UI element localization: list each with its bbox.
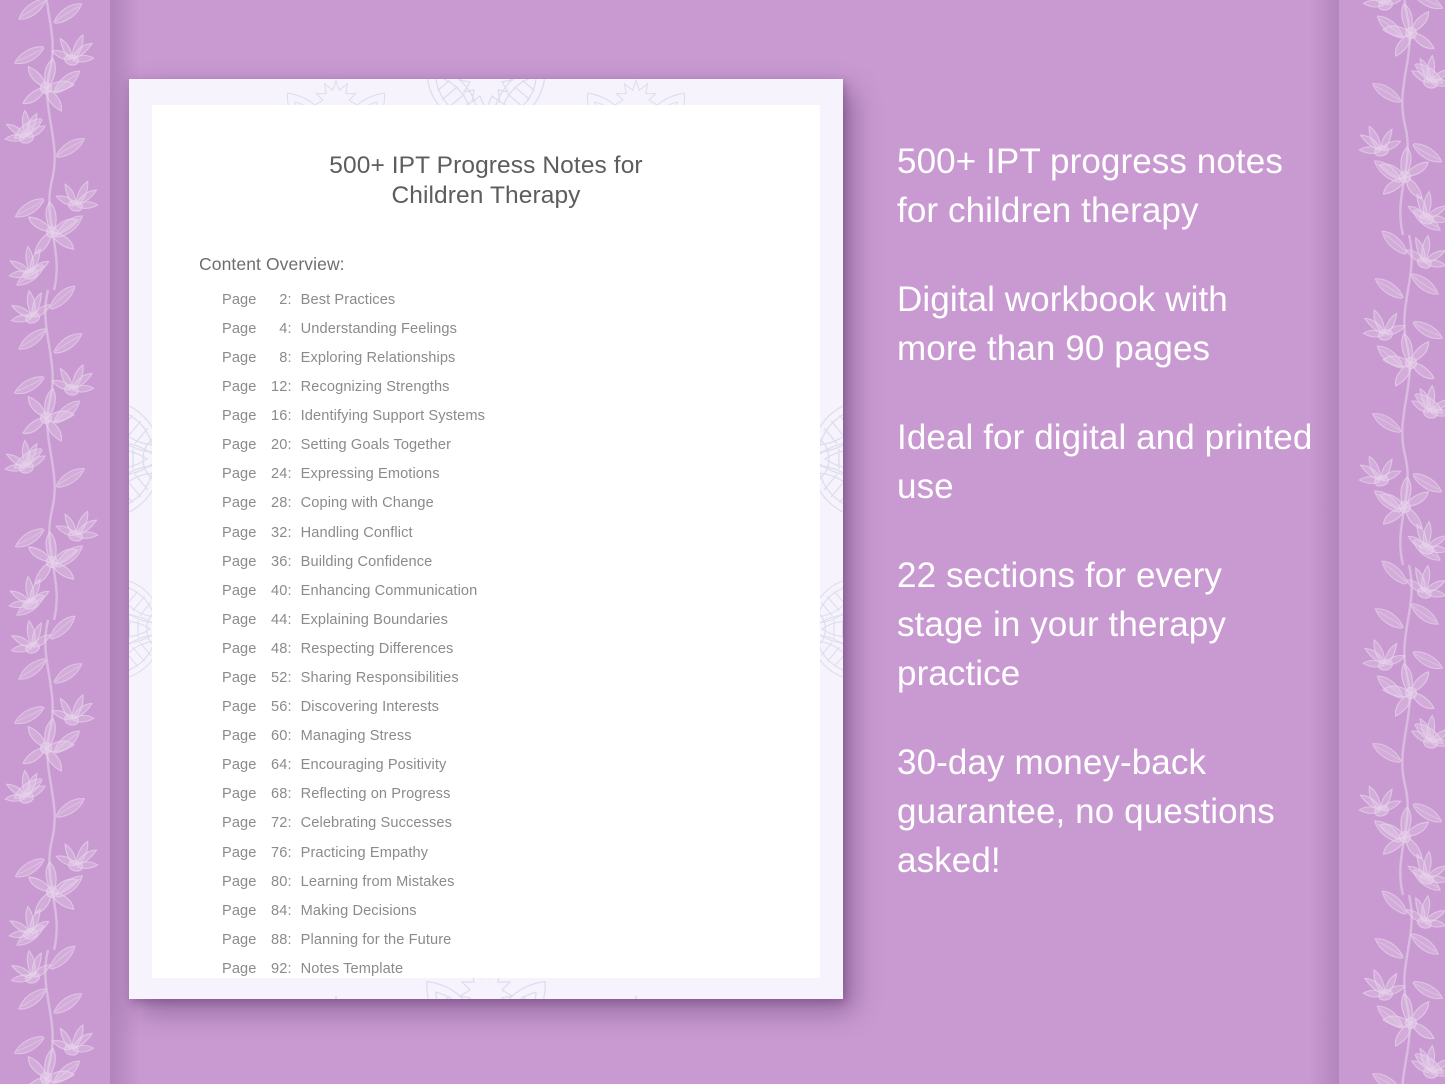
toc-entry[interactable]: Page64:Encouraging Positivity: [222, 757, 820, 786]
toc-page-number: 32: [261, 525, 287, 541]
toc-entry[interactable]: Page80:Learning from Mistakes: [222, 874, 820, 903]
toc-page-number: 76: [261, 845, 287, 861]
toc-colon: :: [287, 292, 291, 308]
toc-entry-title: Coping with Change: [301, 495, 434, 511]
toc-colon: :: [287, 670, 291, 686]
toc-page-word: Page: [222, 932, 256, 948]
floral-vine-border-right: [1321, 0, 1445, 1084]
toc-entry[interactable]: Page72:Celebrating Successes: [222, 815, 820, 844]
toc-entry[interactable]: Page20:Setting Goals Together: [222, 437, 820, 466]
toc-entry-title: Recognizing Strengths: [301, 379, 450, 395]
toc-page-number: 20: [261, 437, 287, 453]
toc-page-number: 72: [261, 815, 287, 831]
toc-page-number: 44: [261, 612, 287, 628]
toc-colon: :: [287, 641, 291, 657]
toc-colon: :: [287, 350, 291, 366]
floral-vine-border-left: [0, 0, 136, 1084]
toc-entry[interactable]: Page16:Identifying Support Systems: [222, 408, 820, 437]
marketing-bullet: 30-day money-back guarantee, no question…: [897, 738, 1317, 885]
toc-entry-title: Explaining Boundaries: [301, 612, 448, 628]
toc-page-number: 40: [261, 583, 287, 599]
toc-page-number: 92: [261, 961, 287, 977]
toc-colon: :: [287, 583, 291, 599]
toc-page-word: Page: [222, 903, 256, 919]
toc-entry[interactable]: Page8:Exploring Relationships: [222, 350, 820, 379]
marketing-bullet: 22 sections for every stage in your ther…: [897, 551, 1317, 698]
toc-colon: :: [287, 728, 291, 744]
toc-entry[interactable]: Page48:Respecting Differences: [222, 641, 820, 670]
toc-entry[interactable]: Page24:Expressing Emotions: [222, 466, 820, 495]
toc-entry-title: Making Decisions: [301, 903, 417, 919]
toc-colon: :: [287, 699, 291, 715]
page-title-line-1: 500+ IPT Progress Notes for: [329, 152, 642, 179]
toc-entry[interactable]: Page44:Explaining Boundaries: [222, 612, 820, 641]
toc-page-number: 84: [261, 903, 287, 919]
toc-page-number: 80: [261, 874, 287, 890]
toc-page-number: 28: [261, 495, 287, 511]
toc-colon: :: [287, 321, 291, 337]
toc-page-number: 56: [261, 699, 287, 715]
toc-page-word: Page: [222, 408, 256, 424]
toc-page-number: 88: [261, 932, 287, 948]
toc-entry[interactable]: Page84:Making Decisions: [222, 903, 820, 932]
toc-page-number: 64: [261, 757, 287, 773]
toc-entry[interactable]: Page36:Building Confidence: [222, 554, 820, 583]
toc-page-word: Page: [222, 815, 256, 831]
toc-page-word: Page: [222, 874, 256, 890]
toc-page-number: 60: [261, 728, 287, 744]
toc-entry-title: Exploring Relationships: [301, 350, 456, 366]
toc-entry[interactable]: Page12:Recognizing Strengths: [222, 379, 820, 408]
toc-entry-title: Managing Stress: [301, 728, 412, 744]
toc-entry[interactable]: Page68:Reflecting on Progress: [222, 786, 820, 815]
toc-page-word: Page: [222, 612, 256, 628]
toc-entry[interactable]: Page4:Understanding Feelings: [222, 321, 820, 350]
toc-page-word: Page: [222, 350, 256, 366]
toc-entry-title: Enhancing Communication: [301, 583, 478, 599]
toc-entry-title: Encouraging Positivity: [301, 757, 447, 773]
toc-page-word: Page: [222, 321, 256, 337]
toc-entry-title: Reflecting on Progress: [301, 786, 451, 802]
toc-colon: :: [287, 495, 291, 511]
toc-colon: :: [287, 786, 291, 802]
marketing-bullet: 500+ IPT progress notes for children the…: [897, 137, 1317, 235]
toc-colon: :: [287, 379, 291, 395]
toc-entry-title: Discovering Interests: [301, 699, 439, 715]
toc-entry-title: Respecting Differences: [301, 641, 454, 657]
toc-page-word: Page: [222, 437, 256, 453]
toc-page-word: Page: [222, 728, 256, 744]
toc-entry[interactable]: Page92:Notes Template: [222, 961, 820, 990]
toc-page-word: Page: [222, 670, 256, 686]
toc-page-word: Page: [222, 699, 256, 715]
toc-entry-title: Sharing Responsibilities: [301, 670, 459, 686]
toc-page-word: Page: [222, 641, 256, 657]
toc-entry-title: Handling Conflict: [301, 525, 413, 541]
toc-entry-title: Expressing Emotions: [301, 466, 440, 482]
toc-colon: :: [287, 815, 291, 831]
toc-page-word: Page: [222, 379, 256, 395]
toc-entry[interactable]: Page88:Planning for the Future: [222, 932, 820, 961]
toc-colon: :: [287, 845, 291, 861]
toc-entry-title: Building Confidence: [301, 554, 433, 570]
toc-page-word: Page: [222, 292, 256, 308]
toc-entry-title: Learning from Mistakes: [301, 874, 455, 890]
marketing-bullets: 500+ IPT progress notes for children the…: [897, 137, 1317, 885]
toc-page-number: 16: [261, 408, 287, 424]
marketing-bullet: Ideal for digital and printed use: [897, 413, 1317, 511]
toc-entry-title: Best Practices: [301, 292, 396, 308]
toc-page-number: 36: [261, 554, 287, 570]
toc-page-word: Page: [222, 583, 256, 599]
toc-page-word: Page: [222, 554, 256, 570]
toc-page-word: Page: [222, 757, 256, 773]
toc-entry-title: Notes Template: [301, 961, 404, 977]
toc-colon: :: [287, 961, 291, 977]
toc-entry-title: Practicing Empathy: [301, 845, 429, 861]
toc-colon: :: [287, 466, 291, 482]
toc-colon: :: [287, 932, 291, 948]
toc-page-word: Page: [222, 845, 256, 861]
toc-page-word: Page: [222, 525, 256, 541]
toc-entry[interactable]: Page40:Enhancing Communication: [222, 583, 820, 612]
toc-colon: :: [287, 554, 291, 570]
toc-entry[interactable]: Page28:Coping with Change: [222, 495, 820, 524]
toc-entry[interactable]: Page76:Practicing Empathy: [222, 845, 820, 874]
toc-entry[interactable]: Page32:Handling Conflict: [222, 525, 820, 554]
toc-page-number: 68: [261, 786, 287, 802]
toc-colon: :: [287, 757, 291, 773]
toc-colon: :: [287, 874, 291, 890]
toc-page-number: 12: [261, 379, 287, 395]
toc-page-word: Page: [222, 786, 256, 802]
content-overview-label: Content Overview:: [152, 254, 820, 275]
toc-page-number: 2: [261, 292, 287, 308]
toc-entry[interactable]: Page52:Sharing Responsibilities: [222, 670, 820, 699]
document-page: 500+ IPT Progress Notes for Children The…: [152, 105, 820, 978]
toc-colon: :: [287, 903, 291, 919]
toc-entry-title: Celebrating Successes: [301, 815, 452, 831]
toc-page-word: Page: [222, 466, 256, 482]
toc-entry[interactable]: Page2:Best Practices: [222, 292, 820, 321]
marketing-bullet: Digital workbook with more than 90 pages: [897, 275, 1317, 373]
toc-page-number: 48: [261, 641, 287, 657]
toc-colon: :: [287, 408, 291, 424]
toc-colon: :: [287, 612, 291, 628]
toc-entry[interactable]: Page60:Managing Stress: [222, 728, 820, 757]
toc-page-word: Page: [222, 495, 256, 511]
toc-page-number: 8: [261, 350, 287, 366]
toc-entry[interactable]: Page56:Discovering Interests: [222, 699, 820, 728]
toc-page-number: 4: [261, 321, 287, 337]
toc-entry-title: Planning for the Future: [301, 932, 452, 948]
document-preview-card[interactable]: 500+ IPT Progress Notes for Children The…: [129, 79, 843, 999]
toc-colon: :: [287, 437, 291, 453]
toc-colon: :: [287, 525, 291, 541]
toc-entry-title: Identifying Support Systems: [301, 408, 485, 424]
toc-entry-title: Understanding Feelings: [301, 321, 457, 337]
page-title: 500+ IPT Progress Notes for Children The…: [152, 151, 820, 211]
table-of-contents: Page2:Best PracticesPage4:Understanding …: [152, 292, 820, 990]
toc-page-number: 52: [261, 670, 287, 686]
toc-entry-title: Setting Goals Together: [301, 437, 451, 453]
toc-page-number: 24: [261, 466, 287, 482]
page-title-line-2: Children Therapy: [391, 182, 580, 209]
toc-page-word: Page: [222, 961, 256, 977]
